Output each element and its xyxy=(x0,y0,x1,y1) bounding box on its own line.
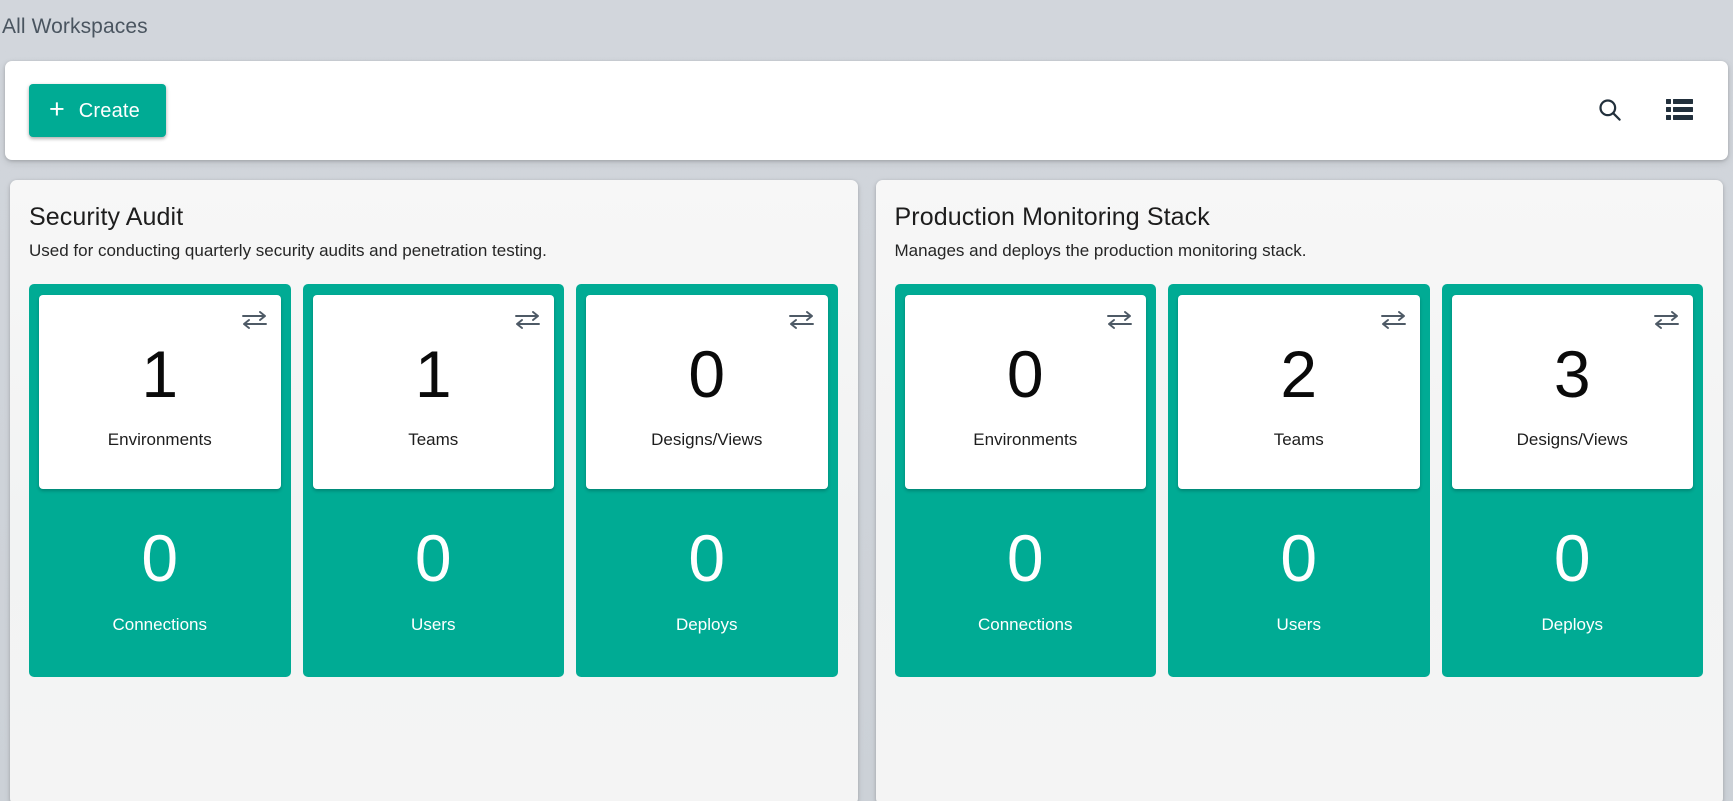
stat-label: Environments xyxy=(108,430,212,450)
workspace-stat-tiles: 1 Environments 0 Connections xyxy=(29,284,838,677)
plus-icon: + xyxy=(49,96,65,126)
stat-value: 2 xyxy=(1280,341,1317,407)
stat-label: Deploys xyxy=(1542,615,1603,635)
workspace-description: Used for conducting quarterly security a… xyxy=(29,240,838,262)
swap-arrows-icon[interactable] xyxy=(789,311,814,329)
swap-arrows-icon[interactable] xyxy=(242,311,267,329)
stat-value: 0 xyxy=(1280,525,1317,591)
swap-arrows-icon[interactable] xyxy=(515,311,540,329)
stat-tile-bottom[interactable]: 0 Connections xyxy=(905,489,1147,677)
workspace-stat-tiles: 0 Environments 0 Connections xyxy=(895,284,1704,677)
stat-label: Designs/Views xyxy=(651,430,762,450)
stat-tile-environments[interactable]: 1 Environments 0 Connections xyxy=(29,284,291,677)
stat-value: 0 xyxy=(415,525,452,591)
stat-tile-bottom[interactable]: 0 Connections xyxy=(39,489,281,677)
stat-tile-top[interactable]: 3 Designs/Views xyxy=(1452,295,1694,489)
stat-label: Deploys xyxy=(676,615,737,635)
stat-tile-top[interactable]: 2 Teams xyxy=(1178,295,1420,489)
stat-tile-top[interactable]: 0 Designs/Views xyxy=(586,295,828,489)
stat-label: Connections xyxy=(112,615,207,635)
stat-label: Connections xyxy=(978,615,1073,635)
workspace-title: Production Monitoring Stack xyxy=(895,202,1704,233)
swap-arrows-icon[interactable] xyxy=(1381,311,1406,329)
stat-value: 0 xyxy=(1007,525,1044,591)
stat-label: Users xyxy=(411,615,455,635)
stat-value: 1 xyxy=(141,341,178,407)
stat-value: 0 xyxy=(1007,341,1044,407)
stat-tile-top[interactable]: 0 Environments xyxy=(905,295,1147,489)
workspace-grid: Security Audit Used for conducting quart… xyxy=(10,180,1723,801)
stat-label: Environments xyxy=(973,430,1077,450)
stat-value: 0 xyxy=(688,341,725,407)
create-button[interactable]: + Create xyxy=(29,84,166,137)
stat-value: 1 xyxy=(415,341,452,407)
workspace-card[interactable]: Security Audit Used for conducting quart… xyxy=(10,180,858,801)
breadcrumb-label[interactable]: All Workspaces xyxy=(2,16,148,43)
stat-tile-bottom[interactable]: 0 Users xyxy=(1178,489,1420,677)
list-view-button[interactable] xyxy=(1662,94,1696,128)
stat-label: Users xyxy=(1277,615,1321,635)
workspace-title: Security Audit xyxy=(29,202,838,233)
stat-tile-designs-views[interactable]: 3 Designs/Views 0 Deploys xyxy=(1442,284,1704,677)
swap-arrows-icon[interactable] xyxy=(1654,311,1679,329)
stat-tile-environments[interactable]: 0 Environments 0 Connections xyxy=(895,284,1157,677)
stat-tile-top[interactable]: 1 Environments xyxy=(39,295,281,489)
stat-label: Teams xyxy=(408,430,458,450)
stat-value: 0 xyxy=(141,525,178,591)
search-icon xyxy=(1596,96,1623,126)
toolbar-actions xyxy=(1592,94,1708,128)
create-button-label: Create xyxy=(79,101,140,121)
stat-tile-bottom[interactable]: 0 Deploys xyxy=(586,489,828,677)
stat-tile-top[interactable]: 1 Teams xyxy=(313,295,555,489)
stat-tile-designs-views[interactable]: 0 Designs/Views 0 Deploys xyxy=(576,284,838,677)
workspace-card[interactable]: Production Monitoring Stack Manages and … xyxy=(876,180,1724,801)
stat-value: 0 xyxy=(688,525,725,591)
stat-label: Designs/Views xyxy=(1517,430,1628,450)
search-button[interactable] xyxy=(1592,94,1626,128)
workspace-toolbar: + Create xyxy=(5,61,1728,160)
stat-tile-teams[interactable]: 1 Teams 0 Users xyxy=(303,284,565,677)
list-view-icon xyxy=(1666,97,1693,124)
stat-tile-bottom[interactable]: 0 Users xyxy=(313,489,555,677)
stat-tile-teams[interactable]: 2 Teams 0 Users xyxy=(1168,284,1430,677)
stat-label: Teams xyxy=(1274,430,1324,450)
stat-tile-bottom[interactable]: 0 Deploys xyxy=(1452,489,1694,677)
swap-arrows-icon[interactable] xyxy=(1107,311,1132,329)
workspace-description: Manages and deploys the production monit… xyxy=(895,240,1704,262)
stat-value: 3 xyxy=(1554,341,1591,407)
breadcrumb: All Workspaces xyxy=(0,0,148,58)
stat-value: 0 xyxy=(1554,525,1591,591)
